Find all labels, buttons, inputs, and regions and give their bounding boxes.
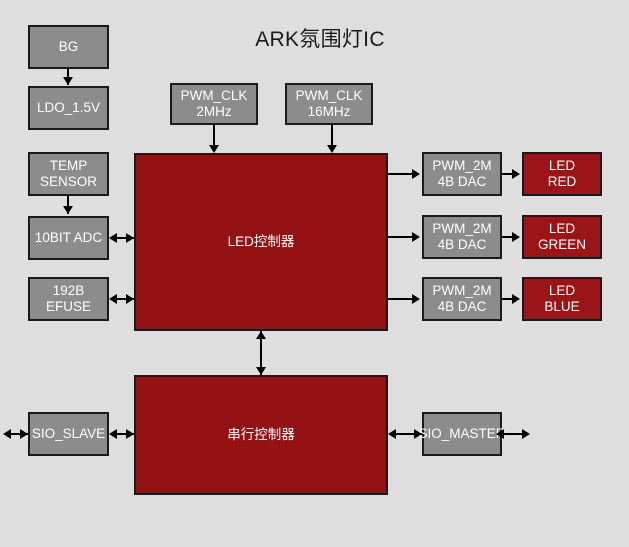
block-dac-red[interactable]: PWM_2M 4B DAC xyxy=(422,152,502,196)
block-bg[interactable]: BG xyxy=(28,25,109,69)
page-title: ARK氛围灯IC xyxy=(200,23,440,53)
arrow-dac-to-led-blue-head xyxy=(512,294,520,304)
arrow-master-ext-head-left xyxy=(496,429,504,439)
arrow-master-ext-head-right xyxy=(522,429,530,439)
block-sio-master[interactable]: SIO_MASTER xyxy=(422,412,502,456)
arrow-ctrl-to-dac-blue-line xyxy=(388,298,415,300)
block-efuse[interactable]: 192B EFUSE xyxy=(28,277,109,321)
block-led-blue[interactable]: LED BLUE xyxy=(522,277,602,321)
block-led-controller[interactable]: LED控制器 xyxy=(134,153,388,331)
block-adc[interactable]: 10BIT ADC xyxy=(28,216,109,260)
arrow-dac-to-led-red-head xyxy=(512,169,520,179)
block-serial-controller[interactable]: 串行控制器 xyxy=(134,375,388,495)
arrow-adc-ctrl-head-right xyxy=(126,233,134,243)
block-dac-green[interactable]: PWM_2M 4B DAC xyxy=(422,215,502,259)
arrow-dac-to-led-green-head xyxy=(512,232,520,242)
arrow-efuse-ctrl-head-left xyxy=(109,294,117,304)
arrow-ext-slave-head-left xyxy=(3,429,11,439)
arrow-ctrl-link-head-up xyxy=(256,331,266,339)
arrow-ctrl-to-dac-blue-head xyxy=(412,294,420,304)
arrow-clk2m-head xyxy=(209,145,219,153)
arrow-slave-serial-head-left xyxy=(109,429,117,439)
arrow-temp-to-adc-head xyxy=(63,206,73,214)
arrow-ctrl-link-head-down xyxy=(256,367,266,375)
arrow-ctrl-to-dac-green-head xyxy=(412,232,420,242)
arrow-bg-to-ldo-head xyxy=(63,77,73,85)
arrow-clk16m-line xyxy=(331,125,333,147)
arrow-serial-master-head-left xyxy=(388,429,396,439)
block-pwm-clk-16mhz[interactable]: PWM_CLK 16MHz xyxy=(285,83,373,125)
arrow-clk2m-line xyxy=(213,125,215,147)
arrow-ctrl-to-dac-red-head xyxy=(412,169,420,179)
block-led-red[interactable]: LED RED xyxy=(522,152,602,196)
block-temp-sensor[interactable]: TEMP SENSOR xyxy=(28,152,109,196)
arrow-clk16m-head xyxy=(327,145,337,153)
block-diagram-canvas: ARK氛围灯IC BG LDO_1.5V TEMP SENSOR 10BIT A… xyxy=(0,0,629,547)
block-ldo[interactable]: LDO_1.5V xyxy=(28,86,109,130)
block-led-green[interactable]: LED GREEN xyxy=(522,215,602,259)
arrow-ctrl-to-dac-green-line xyxy=(388,236,415,238)
block-pwm-clk-2mhz[interactable]: PWM_CLK 2MHz xyxy=(170,83,258,125)
arrow-ext-slave-head-right xyxy=(20,429,28,439)
arrow-slave-serial-head-right xyxy=(126,429,134,439)
block-dac-blue[interactable]: PWM_2M 4B DAC xyxy=(422,277,502,321)
arrow-efuse-ctrl-head-right xyxy=(126,294,134,304)
block-sio-slave[interactable]: SIO_SLAVE xyxy=(28,412,109,456)
arrow-adc-ctrl-head-left xyxy=(109,233,117,243)
arrow-ctrl-to-dac-red-line xyxy=(388,173,415,175)
